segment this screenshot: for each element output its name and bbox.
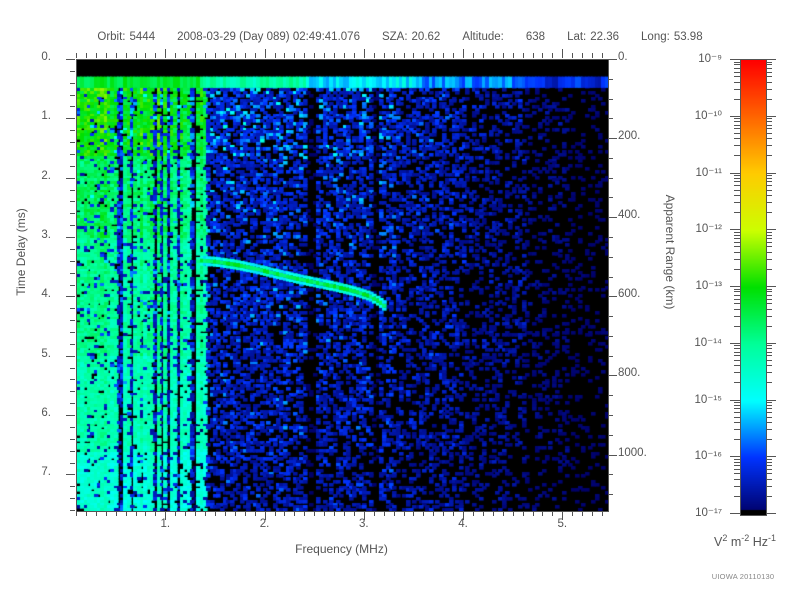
- y-tick-left: [70, 344, 75, 345]
- x-tick-top: [136, 53, 137, 58]
- y-tick-left: [70, 273, 75, 274]
- x-axis-labels: 1.2.3.4.5.: [76, 518, 607, 536]
- y-tick-left: [70, 95, 75, 96]
- y-tick-left: [70, 154, 75, 155]
- y-tick-right: [608, 296, 617, 297]
- credit-text: UIOWA 20110130: [690, 572, 796, 581]
- x-tick-top: [404, 53, 405, 58]
- x-tick-top: [523, 53, 524, 58]
- colorbar-tick-label: 10⁻¹⁶: [695, 448, 722, 462]
- y-tick-left: [66, 415, 75, 416]
- x-tick-top: [354, 53, 355, 58]
- x-tick-top: [572, 53, 573, 58]
- header-sza-key: SZA:: [382, 31, 408, 43]
- x-axis-tick-label: 4.: [458, 518, 468, 530]
- colorbar-tick-major: [730, 286, 740, 287]
- y-tick-left: [70, 285, 75, 286]
- colorbar[interactable]: [740, 59, 767, 516]
- x-tick-top: [185, 53, 186, 58]
- colorbar-tick-major: [730, 173, 740, 174]
- x-tick-top: [175, 53, 176, 58]
- colorbar-tick-label: 10⁻¹²: [695, 221, 722, 235]
- x-tick-top: [433, 53, 434, 58]
- colorbar-tick-major: [766, 173, 776, 174]
- x-tick-top: [165, 49, 166, 58]
- x-tick-top: [552, 53, 553, 58]
- y-tick-left: [70, 71, 75, 72]
- y-tick-left: [70, 106, 75, 107]
- x-tick-top: [334, 53, 335, 58]
- header-datetime: 2008-03-29 (Day 089) 02:49:41.076: [177, 31, 360, 43]
- y-tick-left: [70, 463, 75, 464]
- y-tick-left: [66, 118, 75, 119]
- x-tick-top: [503, 53, 504, 58]
- x-axis-tick-label: 5.: [558, 518, 568, 530]
- y-axis-left-tick-label: 4.: [41, 288, 51, 300]
- y-tick-right: [608, 375, 617, 376]
- header-orbit: Orbit:5444: [97, 31, 155, 43]
- y-axis-right-tick-label: 800.: [618, 367, 640, 379]
- x-tick-top: [394, 53, 395, 58]
- y-tick-left: [70, 391, 75, 392]
- y-tick-left: [70, 308, 75, 309]
- colorbar-tick-major: [730, 59, 740, 60]
- header-altitude: Altitude:638: [462, 31, 545, 43]
- x-tick-top: [533, 53, 534, 58]
- colorbar-tick-major: [766, 513, 776, 514]
- y-tick-right: [608, 455, 617, 456]
- y-tick-left: [70, 320, 75, 321]
- x-tick-top: [582, 53, 583, 58]
- y-tick-left: [70, 332, 75, 333]
- x-axis-tick-label: 3.: [359, 518, 369, 530]
- colorbar-tick-label: 10⁻¹⁷: [695, 505, 722, 519]
- y-tick-left: [66, 178, 75, 179]
- y-axis-left-tick-label: 1.: [41, 110, 51, 122]
- y-tick-left: [70, 486, 75, 487]
- x-tick-top: [344, 53, 345, 58]
- y-axis-left-tick-label: 5.: [41, 348, 51, 360]
- colorbar-tick-major: [766, 59, 776, 60]
- x-axis-tick-label: 2.: [260, 518, 270, 530]
- y-axis-left-tick-label: 6.: [41, 407, 51, 419]
- x-tick-top: [265, 49, 266, 58]
- colorbar-tick-major: [730, 343, 740, 344]
- colorbar-tick-major: [766, 456, 776, 457]
- colorbar-units-label: V2 m-2 Hz-1: [690, 533, 800, 549]
- x-tick-top: [423, 53, 424, 58]
- x-tick-top: [225, 53, 226, 58]
- colorbar-tick-major: [730, 513, 740, 514]
- colorbar-tick-major: [730, 116, 740, 117]
- y-axis-right-tick-label: 600.: [618, 288, 640, 300]
- x-tick-top: [245, 53, 246, 58]
- header-altitude-value: 638: [526, 31, 545, 43]
- x-tick-top: [275, 53, 276, 58]
- x-tick-top: [364, 49, 365, 58]
- y-tick-left: [70, 439, 75, 440]
- y-axis-right-tick-label: 200.: [618, 130, 640, 142]
- y-axis-left-tick-label: 3.: [41, 229, 51, 241]
- x-tick-top: [76, 53, 77, 58]
- y-tick-right: [608, 217, 617, 218]
- header-sza: SZA:20.62: [382, 31, 440, 43]
- y-tick-left: [66, 59, 75, 60]
- y-tick-left: [70, 83, 75, 84]
- y-tick-right: [608, 138, 617, 139]
- x-tick-top: [86, 53, 87, 58]
- x-tick-top: [562, 49, 563, 58]
- y-tick-left: [70, 225, 75, 226]
- header-long: Long:53.98: [641, 31, 703, 43]
- y-axis-left-tick-label: 0.: [41, 51, 51, 63]
- x-tick-top: [413, 53, 414, 58]
- colorbar-gradient-canvas: [741, 60, 766, 515]
- y-tick-left: [70, 427, 75, 428]
- x-tick-top: [294, 53, 295, 58]
- colorbar-tick-major: [730, 229, 740, 230]
- colorbar-tick-label: 10⁻¹⁰: [695, 108, 722, 122]
- y-tick-left: [70, 379, 75, 380]
- header-sza-value: 20.62: [412, 31, 441, 43]
- x-tick-top: [463, 49, 464, 58]
- colorbar-tick-major: [766, 286, 776, 287]
- x-tick-top: [592, 53, 593, 58]
- x-tick-top: [473, 53, 474, 58]
- x-tick-top: [324, 53, 325, 58]
- colorbar-tick-major: [766, 343, 776, 344]
- x-tick-top: [542, 53, 543, 58]
- colorbar-tick-major: [766, 400, 776, 401]
- colorbar-tick-label: 10⁻¹⁵: [695, 392, 722, 406]
- x-tick-top: [205, 53, 206, 58]
- units-hz: Hz: [749, 535, 768, 549]
- y-axis-left-labels: 0.1.2.3.4.5.6.7.: [0, 59, 64, 510]
- y-tick-left: [66, 474, 75, 475]
- header-long-value: 53.98: [674, 31, 703, 43]
- x-tick-top: [384, 53, 385, 58]
- y-axis-left-tick-label: 2.: [41, 170, 51, 182]
- x-tick-top: [255, 53, 256, 58]
- x-tick-top: [235, 53, 236, 58]
- colorbar-tick-label: 10⁻¹⁴: [694, 335, 722, 349]
- x-tick-top: [145, 53, 146, 58]
- x-tick-top: [314, 53, 315, 58]
- x-tick-top: [453, 53, 454, 58]
- x-tick-top: [126, 53, 127, 58]
- y-axis-right-tick-label: 400.: [618, 209, 640, 221]
- x-tick-top: [602, 53, 603, 58]
- colorbar-tick-major: [730, 400, 740, 401]
- y-axis-left-title: Time Delay (ms): [14, 167, 28, 337]
- header-orbit-key: Orbit:: [97, 31, 125, 43]
- x-tick-top: [106, 53, 107, 58]
- x-tick-top: [215, 53, 216, 58]
- x-axis-tick-label: 1.: [161, 518, 171, 530]
- colorbar-tick-major: [766, 229, 776, 230]
- y-tick-left: [66, 296, 75, 297]
- header-lat-key: Lat:: [567, 31, 586, 43]
- y-axis-right-title: Apparent Range (km): [663, 152, 677, 352]
- y-tick-left: [70, 510, 75, 511]
- x-tick-top: [195, 53, 196, 58]
- header-lat-value: 22.36: [590, 31, 619, 43]
- ionogram-plot-area[interactable]: [76, 59, 609, 512]
- spectrogram-canvas: [77, 60, 608, 511]
- x-tick-top: [374, 53, 375, 58]
- x-tick-top: [284, 53, 285, 58]
- y-axis-right-tick-label: 0.: [618, 51, 628, 63]
- y-tick-left: [70, 261, 75, 262]
- y-tick-left: [70, 451, 75, 452]
- header-altitude-key: Altitude:: [462, 31, 504, 43]
- header-lat: Lat:22.36: [567, 31, 619, 43]
- x-tick-top: [483, 53, 484, 58]
- y-tick-left: [70, 403, 75, 404]
- x-tick-top: [155, 53, 156, 58]
- x-tick-top: [443, 53, 444, 58]
- colorbar-labels: 10⁻⁹10⁻¹⁰10⁻¹¹10⁻¹²10⁻¹³10⁻¹⁴10⁻¹⁵10⁻¹⁶1…: [676, 59, 730, 514]
- y-axis-right-tick-label: 1000.: [618, 447, 647, 459]
- y-tick-left: [66, 237, 75, 238]
- y-tick-left: [66, 356, 75, 357]
- y-tick-left: [70, 368, 75, 369]
- colorbar-tick-label: 10⁻¹¹: [695, 165, 722, 179]
- x-axis-title: Frequency (MHz): [76, 542, 607, 556]
- y-tick-left: [70, 190, 75, 191]
- y-axis-left-tick-label: 7.: [41, 466, 51, 478]
- header-long-key: Long:: [641, 31, 670, 43]
- header-orbit-value: 5444: [130, 31, 156, 43]
- y-tick-left: [70, 498, 75, 499]
- colorbar-tick-label: 10⁻⁹: [698, 51, 722, 65]
- units-m: m: [727, 535, 741, 549]
- colorbar-tick-major: [730, 456, 740, 457]
- y-tick-left: [70, 130, 75, 131]
- x-tick-top: [304, 53, 305, 58]
- y-tick-left: [70, 142, 75, 143]
- x-tick-top: [96, 53, 97, 58]
- x-tick-top: [493, 53, 494, 58]
- x-tick-top: [116, 53, 117, 58]
- y-tick-left: [70, 201, 75, 202]
- y-tick-right: [608, 59, 617, 60]
- x-tick-top: [513, 53, 514, 58]
- y-tick-left: [70, 213, 75, 214]
- y-tick-left: [70, 166, 75, 167]
- units-exp-3: -1: [768, 533, 776, 543]
- colorbar-tick-major: [766, 116, 776, 117]
- colorbar-tick-label: 10⁻¹³: [695, 278, 722, 292]
- header-metadata-line: Orbit:54442008-03-29 (Day 089) 02:49:41.…: [0, 31, 800, 43]
- y-tick-left: [70, 249, 75, 250]
